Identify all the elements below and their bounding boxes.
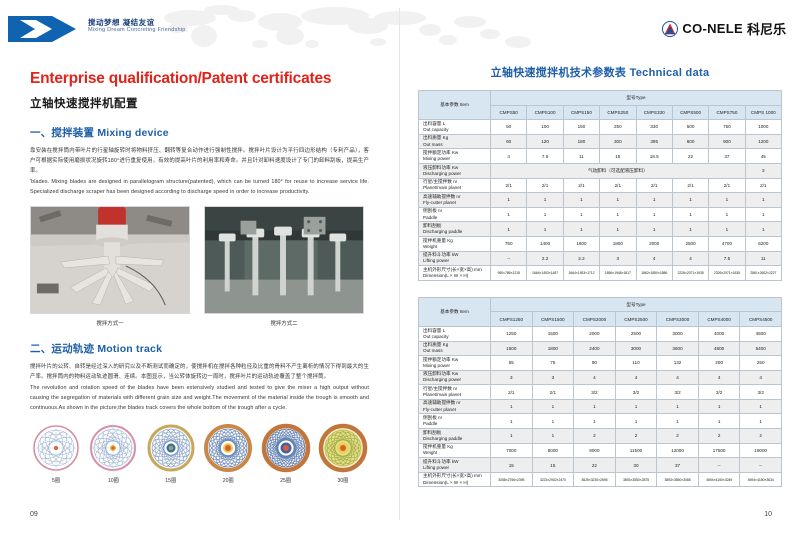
track-label: 10圈 <box>87 477 139 484</box>
cell: 120 <box>527 134 563 149</box>
cell: 1 <box>636 207 672 222</box>
cell: 1 <box>672 207 708 222</box>
cell: 330 <box>636 120 672 135</box>
cell: 1 <box>615 399 657 414</box>
cell: 1 <box>615 414 657 429</box>
cell: 22 <box>574 458 616 473</box>
track-diagram-25 <box>260 422 312 474</box>
cell: 1 <box>563 193 599 208</box>
cell: 132 <box>657 356 699 371</box>
table1-header-row-type: 基本参数 Item 型号Type <box>419 91 782 106</box>
table-row: 高速辅助搅拌数 nr Fly-cutter planet 1 1 1 1 1 1… <box>419 193 782 208</box>
track-label: 5圈 <box>30 477 82 484</box>
cell: 2/1 <box>636 178 672 193</box>
table-row: 搅拌机重量 Kg Weight 7000 8000 9000 11500 120… <box>419 443 782 458</box>
photo-item: 搅拌方式一 <box>30 206 190 327</box>
table-row: 提升料斗功率 kW Lifting power -- 2.2 2.2 3 4 4… <box>419 251 782 266</box>
cell: 4 <box>657 370 699 385</box>
row-label: 高速辅助搅拌数 nr Fly-cutter planet <box>419 193 491 208</box>
cell: 110 <box>615 356 657 371</box>
cell: 3000 <box>615 341 657 356</box>
track-diagram-10 <box>87 422 139 474</box>
cell: 4 <box>491 149 527 164</box>
table2-model-header: CMPS2500 <box>615 312 657 327</box>
cell: 3/2 <box>698 385 740 400</box>
cell: 1 <box>600 193 636 208</box>
row-label-en: Out capacity <box>423 334 490 340</box>
cell: 1 <box>491 429 533 444</box>
cell: 950×786×1215 <box>491 266 527 281</box>
table2-model-header: CMPS4500 <box>740 312 782 327</box>
technical-data-table-2: 基本参数 Item 型号Type CMPS1250 CMPS1500 CMPS2… <box>418 297 782 488</box>
row-label-en: Mixing power <box>423 156 490 162</box>
cell: 1 <box>532 399 574 414</box>
cell: -- <box>491 251 527 266</box>
cell: 1 <box>636 193 672 208</box>
page-number-left: 09 <box>30 511 38 518</box>
cell: 7.5 <box>709 251 745 266</box>
cell: 2/1 <box>563 178 599 193</box>
cell: 1862×1850×1886 <box>636 266 672 281</box>
table-row: 出料质量 Kg Out mass 1500 1800 2400 3000 360… <box>419 341 782 356</box>
cell: 37 <box>709 149 745 164</box>
cell: 1 <box>698 399 740 414</box>
table1-model-header: CMPS250 <box>600 105 636 120</box>
cell: 900 <box>709 134 745 149</box>
row-label: 液压卸料功率 Kw Discharging power <box>419 370 491 385</box>
photo-mixing-shaft-row <box>204 206 364 314</box>
cell: 3 <box>532 370 574 385</box>
cell: 3 <box>745 163 781 178</box>
table-row: 侧刮板 nr Paddle 1 1 1 1 1 1 1 1 <box>419 207 782 222</box>
cell: 2 <box>615 429 657 444</box>
cell: 7.5 <box>527 149 563 164</box>
track-label: 25圈 <box>260 477 312 484</box>
row-label: 行星/主搅拌数 nr Planet/main planet <box>419 178 491 193</box>
cell: 17500 <box>698 443 740 458</box>
cell: 2861×2602×2227 <box>745 266 781 281</box>
table2-model-header: CMPS1500 <box>532 312 574 327</box>
row-label-en: Discharging paddle <box>423 436 490 442</box>
motion-track-paragraph-en: The revolution and rotation speed of the… <box>30 383 369 413</box>
table-row: 搅拌额定功率 Kw Mixing power 55 75 90 110 132 … <box>419 356 782 371</box>
cell: 4 <box>672 251 708 266</box>
cell: 3/2 <box>740 385 782 400</box>
brand-name-cn: 科尼乐 <box>747 19 786 38</box>
row-label: 出料质量 Kg Out mass <box>419 134 491 149</box>
table-row: 卸料刮板 Discharging paddle 1 1 1 1 1 1 1 1 <box>419 222 782 237</box>
cell: 1 <box>672 222 708 237</box>
table1-header-item-cn: 基本参数 <box>440 102 458 107</box>
row-label-en: Planet/main planet <box>423 185 490 191</box>
cell: 250 <box>740 356 782 371</box>
cell: 2.2 <box>563 251 599 266</box>
table1-model-header: CMPS150 <box>563 105 599 120</box>
page-title: Enterprise qualification/Patent certific… <box>30 70 369 88</box>
cell: 1 <box>745 193 781 208</box>
cell: 11 <box>563 149 599 164</box>
cell: 1800 <box>532 341 574 356</box>
table1-header-item-en: Item <box>460 102 469 107</box>
slogan-block: 搅动梦想 凝结友谊 Mixing Dream Concreting Friend… <box>88 18 186 34</box>
row-label-en: Fly-cutter planet <box>423 200 490 206</box>
cell: 1000 <box>745 120 781 135</box>
cell: 3893×3550×2875 <box>615 472 657 487</box>
cell: 1 <box>532 429 574 444</box>
track-label: 15圈 <box>145 477 197 484</box>
row-label-en: Lifting power <box>423 465 490 471</box>
cell: 2/1 <box>491 178 527 193</box>
cell: 1 <box>491 207 527 222</box>
table-row: 主机外形尺寸(长×宽×高) mm Dimension(L × W × H) 30… <box>419 472 782 487</box>
cell: 500 <box>672 120 708 135</box>
cell: 2/1 <box>745 178 781 193</box>
track-label: 30圈 <box>317 477 369 484</box>
cell: 4594×4150×3634 <box>740 472 782 487</box>
cell: 4 <box>615 370 657 385</box>
cell: 1 <box>574 399 616 414</box>
cell: 3/2 <box>657 385 699 400</box>
right-page: 立轴快速搅拌机技术参数表 Technical data 基本参数 Item 型号… <box>400 58 800 518</box>
table1-model-header: CMPS 1000 <box>745 105 781 120</box>
track-item: 25圈 <box>260 422 312 484</box>
photo-mixing-blade-star <box>30 206 190 314</box>
mixing-device-paragraph-en: 'blades. Mixing blades are designed in p… <box>30 177 369 197</box>
row-label: 行星/主搅拌数 nr Planet/main planet <box>419 385 491 400</box>
cell: 4 <box>636 251 672 266</box>
table1-header-type: 型号Type <box>491 91 782 106</box>
row-label-cn: 主机外形尺寸(长×宽×高) mm <box>423 473 490 479</box>
cell: 2400 <box>574 341 616 356</box>
cell: 2226×2071×1935 <box>672 266 708 281</box>
row-label-en: Lifting power <box>423 258 490 264</box>
row-label-en: Planet/main planet <box>423 392 490 398</box>
row-label: 搅拌机重量 Kg Weight <box>419 443 491 458</box>
table2-header-item-cn: 基本参数 <box>440 309 458 314</box>
table2-header-item: 基本参数 Item <box>419 297 491 326</box>
row-label-en: Out mass <box>423 348 490 354</box>
technical-data-title: 立轴快速搅拌机技术参数表 Technical data <box>418 64 782 80</box>
table2-model-header: CMPS4000 <box>698 312 740 327</box>
world-map-graphic <box>130 2 560 56</box>
table-row: 侧刮板 nr Paddle 1 1 1 1 1 1 1 <box>419 414 782 429</box>
track-diagram-20 <box>202 422 254 474</box>
slogan-cn: 搅动梦想 凝结友谊 <box>88 18 186 27</box>
row-label-en: Discharging power <box>423 377 490 383</box>
table-row: 提升料斗功率 kW Lifting power 15 15 22 30 37 -… <box>419 458 782 473</box>
cell: 2/1 <box>709 178 745 193</box>
cell: 1856×1948×1817 <box>600 266 636 281</box>
cell: 150 <box>563 120 599 135</box>
table1-header-item: 基本参数 Item <box>419 91 491 120</box>
table1-model-header: CMPS50 <box>491 105 527 120</box>
row-label: 提升料斗功率 kW Lifting power <box>419 458 491 473</box>
track-item: 10圈 <box>87 422 139 484</box>
row-label-en: Discharging paddle <box>423 229 490 235</box>
cell: 1664×1453×1712 <box>563 266 599 281</box>
cell: 5400 <box>740 341 782 356</box>
row-label: 卸料刮板 Discharging paddle <box>419 429 491 444</box>
mixing-device-paragraph-cn: 靠安装在搅拌筒内带叶片的行星轴旋转时将物料挤压、翻转等复合动作进行强制性搅拌。搅… <box>30 146 369 176</box>
table1-model-header: CMPS500 <box>672 105 708 120</box>
row-label-en: Out mass <box>423 142 490 148</box>
track-diagram-30 <box>317 422 369 474</box>
cell: 4500 <box>740 326 782 341</box>
cell: 37 <box>657 458 699 473</box>
cell: 7000 <box>491 443 533 458</box>
table2-model-header: CMPS1250 <box>491 312 533 327</box>
cell: 1 <box>657 399 699 414</box>
track-label: 20圈 <box>202 477 254 484</box>
photo-item: 搅拌方式二 <box>204 206 364 327</box>
cell: 2 <box>698 429 740 444</box>
row-label: 卸料刮板 Discharging paddle <box>419 222 491 237</box>
cell: 3223×2902×2470 <box>532 472 574 487</box>
cell: 3625×3230×2695 <box>574 472 616 487</box>
table-row: 出料容量 L Out capacity 1250 1500 2000 2500 … <box>419 326 782 341</box>
row-label-en: Paddle <box>423 215 490 221</box>
cell: 2/1 <box>491 385 533 400</box>
brand-name: CO-NELE <box>682 21 743 36</box>
cell: 3/2 <box>574 385 616 400</box>
cell: 3 <box>600 251 636 266</box>
track-item: 20圈 <box>202 422 254 484</box>
table2-model-header: CMPS2000 <box>574 312 616 327</box>
row-label: 主机外形尺寸(长×宽×高) mm Dimension(L × W × H) <box>419 472 491 487</box>
table2-header-type: 型号Type <box>491 297 782 312</box>
row-label: 搅拌额定功率 Kw Mixing power <box>419 149 491 164</box>
cell: 1 <box>709 193 745 208</box>
left-page: Enterprise qualification/Patent certific… <box>0 58 399 518</box>
cell: 2/1 <box>672 178 708 193</box>
cell: 2000 <box>574 326 616 341</box>
cell: 2500 <box>672 236 708 251</box>
cell: 90 <box>574 356 616 371</box>
table-row: 液压卸料功率 Kw Discharging power 3 3 4 4 4 4 … <box>419 370 782 385</box>
cell: 1 <box>491 414 533 429</box>
cell: 1 <box>740 399 782 414</box>
cell: 1500 <box>532 326 574 341</box>
table-row: 液压卸料功率 Kw Discharging power 气动卸料（可选配液压卸料… <box>419 163 782 178</box>
cell: 15 <box>532 458 574 473</box>
cell: 1800 <box>600 236 636 251</box>
row-label: 搅拌机重量 Kg Weight <box>419 236 491 251</box>
cell: 1 <box>600 222 636 237</box>
table-spacer <box>418 281 782 297</box>
cell: 1 <box>563 207 599 222</box>
section-heading-motion-track: 二、运动轨迹 Motion track <box>30 341 369 356</box>
double-chevron-logo-icon <box>8 16 80 42</box>
cell: -- <box>698 458 740 473</box>
cell: 3/2 <box>615 385 657 400</box>
cell: 11500 <box>615 443 657 458</box>
table-row: 行星/主搅拌数 nr Planet/main planet 2/1 2/1 2/… <box>419 178 782 193</box>
cell: 2326×2071×1935 <box>709 266 745 281</box>
page-subtitle: 立轴快速搅拌机配置 <box>30 95 369 111</box>
cell: 1 <box>563 222 599 237</box>
cell: 1 <box>527 207 563 222</box>
page-header-band: 搅动梦想 凝结友谊 Mixing Dream Concreting Friend… <box>0 0 800 58</box>
cell: 15 <box>600 149 636 164</box>
cell: 9000 <box>574 443 616 458</box>
row-label: 侧刮板 nr Paddle <box>419 414 491 429</box>
row-label-en: Fly-cutter planet <box>423 407 490 413</box>
cell: 30 <box>615 458 657 473</box>
cell: 3 <box>491 370 533 385</box>
cell: 1400 <box>527 236 563 251</box>
row-label: 出料容量 L Out capacity <box>419 120 491 135</box>
cell: 19000 <box>740 443 782 458</box>
cell: 180 <box>563 134 599 149</box>
cell: 4800 <box>698 341 740 356</box>
motion-track-diagrams: 5圈 10圈 <box>30 422 369 484</box>
table-row: 搅拌额定功率 Kw Mixing power 4 7.5 11 15 18.5 … <box>419 149 782 164</box>
row-label: 侧刮板 nr Paddle <box>419 207 491 222</box>
row-label-en: Dimension(L × W × H) <box>423 480 490 486</box>
cell: 2 <box>740 429 782 444</box>
cell: 11 <box>745 251 781 266</box>
cell: 1664×1453×1487 <box>527 266 563 281</box>
table-row: 出料容量 L Out capacity 50 100 150 250 330 5… <box>419 120 782 135</box>
cell: 1600 <box>563 236 599 251</box>
cell: 1 <box>574 414 616 429</box>
row-label-en: Out capacity <box>423 127 490 133</box>
cell: 100 <box>527 120 563 135</box>
track-item: 5圈 <box>30 422 82 484</box>
section-heading-mixing-device: 一、搅拌装置 Mixing device <box>30 125 369 140</box>
cell: 45 <box>745 149 781 164</box>
table1-model-header: CMPS100 <box>527 105 563 120</box>
cell: 1 <box>636 222 672 237</box>
cell: 300 <box>600 134 636 149</box>
row-label: 出料质量 Kg Out mass <box>419 341 491 356</box>
row-label-en: Dimension(L × W × H) <box>423 273 490 279</box>
row-label: 液压卸料功率 Kw Discharging power <box>419 163 491 178</box>
mixing-device-photos: 搅拌方式一 <box>30 206 369 327</box>
cell: 2 <box>574 429 616 444</box>
table2-header-row-type: 基本参数 Item 型号Type <box>419 297 782 312</box>
cell: 1 <box>745 207 781 222</box>
cell: 6200 <box>745 236 781 251</box>
cell: 4 <box>698 370 740 385</box>
cell: 50 <box>491 120 527 135</box>
row-label-en: Mixing power <box>423 363 490 369</box>
track-item: 15圈 <box>145 422 197 484</box>
cell: 15 <box>491 458 533 473</box>
cell: 1 <box>657 414 699 429</box>
row-label: 主机外形尺寸(长×宽×高) mm Dimension(L × W × H) <box>419 266 491 281</box>
row-label-en: Weight <box>423 244 490 250</box>
row-label: 提升料斗功率 kW Lifting power <box>419 251 491 266</box>
cell: 1 <box>745 222 781 237</box>
cell: 750 <box>709 120 745 135</box>
row-label: 搅拌额定功率 Kw Mixing power <box>419 356 491 371</box>
cell: 3000 <box>657 326 699 341</box>
table-row: 出料质量 Kg Out mass 60 120 180 300 395 600 … <box>419 134 782 149</box>
track-item: 30圈 <box>317 422 369 484</box>
cell: -- <box>740 458 782 473</box>
cell: 1 <box>527 222 563 237</box>
row-label-en: Paddle <box>423 421 490 427</box>
cell: 395 <box>636 134 672 149</box>
table2-model-header: CMPS3000 <box>657 312 699 327</box>
cell: 1 <box>527 193 563 208</box>
technical-data-table-1: 基本参数 Item 型号Type CMPS50 CMPS100 CMPS150 … <box>418 90 782 281</box>
cell: 1 <box>698 414 740 429</box>
cell: 2500 <box>615 326 657 341</box>
table2-header-item-en: Item <box>460 309 469 314</box>
cell: 600 <box>672 134 708 149</box>
row-label: 高速辅助搅拌数 nr Fly-cutter planet <box>419 399 491 414</box>
cell: 4000 <box>698 326 740 341</box>
cell: 22 <box>672 149 708 164</box>
cell: 3600 <box>657 341 699 356</box>
cell: 3058×2756×2395 <box>491 472 533 487</box>
table-row: 高速辅助搅拌数 nr Fly-cutter planet 1 1 1 1 1 1… <box>419 399 782 414</box>
table-row: 卸料刮板 Discharging paddle 1 1 2 2 2 2 2 <box>419 429 782 444</box>
cell: 1 <box>672 193 708 208</box>
cell: 2/1 <box>532 385 574 400</box>
cell: 60 <box>491 134 527 149</box>
table-row: 主机外形尺寸(长×宽×高) mm Dimension(L × W × H) 95… <box>419 266 782 281</box>
cell: 200 <box>698 356 740 371</box>
row-label-en: Discharging power <box>423 171 490 177</box>
cell: 1 <box>709 207 745 222</box>
cell: 1 <box>740 414 782 429</box>
cell: 4 <box>574 370 616 385</box>
row-label-en: Weight <box>423 450 490 456</box>
cell: 1 <box>709 222 745 237</box>
cell: 8000 <box>532 443 574 458</box>
cell: 2 <box>657 429 699 444</box>
row-label-cn: 主机外形尺寸(长×宽×高) mm <box>423 267 490 273</box>
table-row: 搅拌机重量 Kg Weight 750 1400 1600 1800 2000 … <box>419 236 782 251</box>
cell: 1 <box>491 222 527 237</box>
co-nele-triangle-mark-icon <box>662 21 678 37</box>
track-diagram-15 <box>145 422 197 474</box>
cell: 2000 <box>636 236 672 251</box>
motion-track-paragraph-cn: 搅拌叶片的公转、自转是经过深入的研究以及不断测试而确定的，使搅拌机在搅拌各种粒径… <box>30 362 369 382</box>
cell-merged-discharging-note: 气动卸料（可选配液压卸料） <box>491 163 746 178</box>
cell: 1 <box>491 399 533 414</box>
cell: 1500 <box>491 341 533 356</box>
photo-caption: 搅拌方式二 <box>204 319 364 327</box>
photo-caption: 搅拌方式一 <box>30 319 190 327</box>
cell: 18.5 <box>636 149 672 164</box>
cell: 1200 <box>745 134 781 149</box>
table-row: 行星/主搅拌数 nr Planet/main planet 2/1 2/1 3/… <box>419 385 782 400</box>
cell: 2/1 <box>527 178 563 193</box>
table1-model-header: CMPS750 <box>709 105 745 120</box>
table1-model-header: CMPS330 <box>636 105 672 120</box>
cell: 750 <box>491 236 527 251</box>
cell: 4 <box>740 370 782 385</box>
cell: 2/1 <box>600 178 636 193</box>
cell: 12000 <box>657 443 699 458</box>
cell: 250 <box>600 120 636 135</box>
cell: 1250 <box>491 326 533 341</box>
cell: 4594×4150×3249 <box>698 472 740 487</box>
cell: 1 <box>491 193 527 208</box>
cell: 3893×3550×3085 <box>657 472 699 487</box>
cell: 55 <box>491 356 533 371</box>
cell: 1 <box>532 414 574 429</box>
cell: 75 <box>532 356 574 371</box>
cell: 4700 <box>709 236 745 251</box>
slogan-en: Mixing Dream Concreting Friendship <box>88 27 186 34</box>
cell: 2.2 <box>527 251 563 266</box>
page-number-right: 10 <box>764 511 772 518</box>
